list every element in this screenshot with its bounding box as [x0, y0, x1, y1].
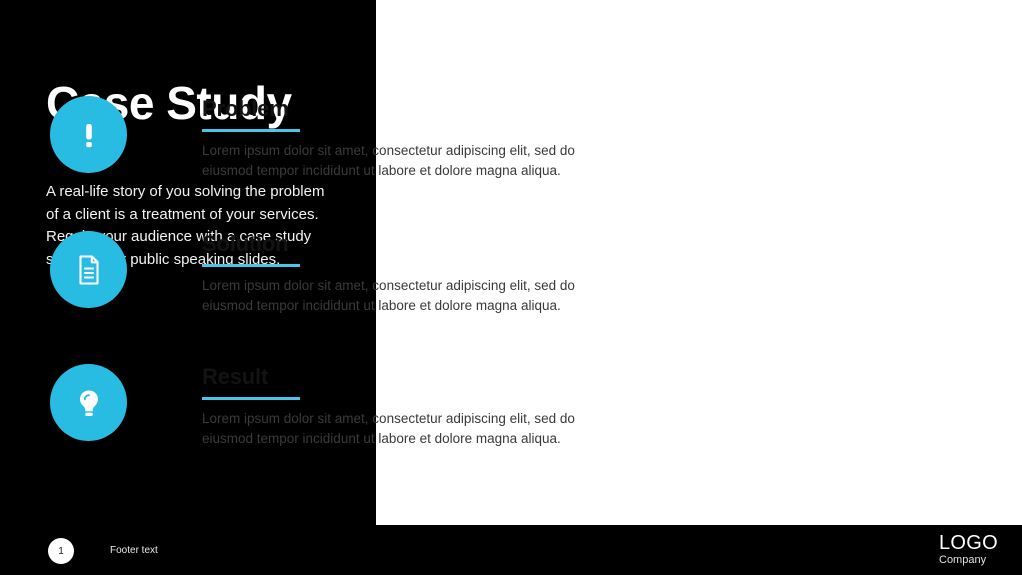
feature-row[interactable]: Solution Lorem ipsum dolor sit amet, con… — [50, 231, 620, 331]
feature-text: Lorem ipsum dolor sit amet, consectetur … — [202, 409, 620, 448]
document-icon — [71, 252, 107, 288]
feature-icon-badge — [50, 231, 127, 308]
slide-number-badge: 1 — [48, 538, 74, 564]
feature-heading: Problem — [202, 96, 620, 122]
logo-subtitle: Company — [939, 555, 998, 566]
feature-icon-badge — [50, 364, 127, 441]
feature-body: Problem Lorem ipsum dolor sit amet, cons… — [202, 96, 620, 180]
feature-underline — [202, 129, 300, 132]
logo: LOGO Company — [939, 533, 998, 566]
feature-underline — [202, 397, 300, 400]
feature-underline — [202, 264, 300, 267]
feature-body: Result Lorem ipsum dolor sit amet, conse… — [202, 364, 620, 448]
exclamation-icon — [72, 118, 106, 152]
feature-icon-badge — [50, 96, 127, 173]
lightbulb-icon — [71, 385, 107, 421]
feature-row[interactable]: Result Lorem ipsum dolor sit amet, conse… — [50, 364, 620, 464]
logo-title: LOGO — [939, 533, 998, 553]
feature-heading: Result — [202, 364, 620, 390]
feature-text: Lorem ipsum dolor sit amet, consectetur … — [202, 141, 620, 180]
feature-heading: Solution — [202, 231, 620, 257]
feature-body: Solution Lorem ipsum dolor sit amet, con… — [202, 231, 620, 315]
feature-row[interactable]: Problem Lorem ipsum dolor sit amet, cons… — [50, 96, 620, 196]
footer-text: Footer text — [110, 545, 158, 556]
feature-text: Lorem ipsum dolor sit amet, consectetur … — [202, 276, 620, 315]
slide-canvas: Case Study A real-life story of you solv… — [0, 0, 1022, 575]
